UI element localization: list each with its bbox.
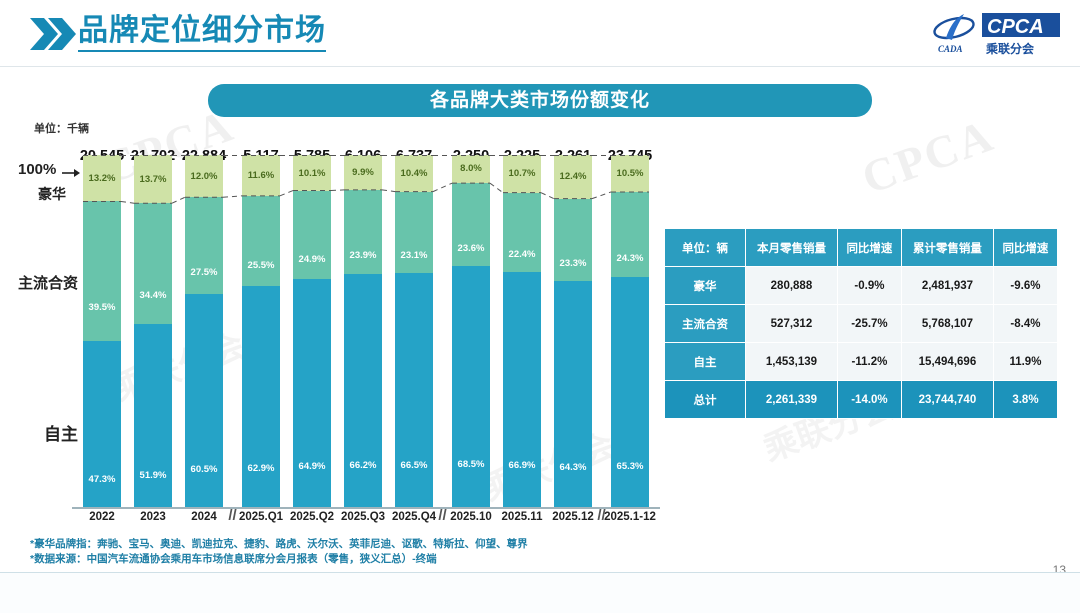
table-row: 豪华280,888-0.9%2,481,937-9.6% <box>665 267 1058 305</box>
x-axis-line <box>72 507 660 509</box>
segment-value-label: 64.3% <box>554 462 592 473</box>
table-row-header: 总计 <box>665 381 746 419</box>
table-cell: 15,494,696 <box>901 343 993 381</box>
segment-value-label: 22.4% <box>503 249 541 260</box>
table-header-row: 单位：辆本月零售销量同比增速累计零售销量同比增速 <box>665 229 1058 267</box>
segment-value-label: 62.9% <box>242 463 280 474</box>
table-cell: -0.9% <box>837 267 901 305</box>
bar-segment-luxury: 12.0% <box>185 155 223 197</box>
table-row: 自主1,453,139-11.2%15,494,69611.9% <box>665 343 1058 381</box>
bar-segment-self: 64.9% <box>293 279 331 507</box>
x-axis-tick-label: 2025.Q1 <box>239 511 283 523</box>
table-cell: -14.0% <box>837 381 901 419</box>
segment-value-label: 66.9% <box>503 460 541 471</box>
x-axis-tick-label: 2023 <box>140 511 166 523</box>
bar-segment-luxury: 9.9% <box>344 155 382 190</box>
x-axis-tick-label: 2025.10 <box>450 511 492 523</box>
slide-root: CPCA CPCA 乘联分会 乘联分会 乘联分会 品牌定位细分市场 CADA C… <box>0 0 1080 613</box>
bar-segment-luxury: 12.4% <box>554 155 592 199</box>
bar-segment-luxury: 8.0% <box>452 155 490 183</box>
x-axis-tick-label: 2025.12 <box>552 511 594 523</box>
bar-segment-joint: 23.1% <box>395 192 433 273</box>
bar-column: 8.0%23.6%68.5% <box>452 155 490 507</box>
segment-value-label: 66.5% <box>395 460 433 471</box>
bar-segment-luxury: 13.2% <box>83 155 121 201</box>
bar-segment-self: 51.9% <box>134 324 172 507</box>
table-row: 总计2,261,339-14.0%23,744,7403.8% <box>665 381 1058 419</box>
segment-value-label: 66.2% <box>344 460 382 471</box>
summary-table: 单位：辆本月零售销量同比增速累计零售销量同比增速 豪华280,888-0.9%2… <box>664 228 1058 419</box>
series-label-self: 自主 <box>44 420 78 445</box>
bar-segment-joint: 34.4% <box>134 203 172 324</box>
table-cell: 527,312 <box>746 305 838 343</box>
axis-100-label: 100% <box>18 161 56 178</box>
x-axis-tick-label: 2025.Q2 <box>290 511 334 523</box>
table-col-header: 本月零售销量 <box>746 229 838 267</box>
table-cell: -11.2% <box>837 343 901 381</box>
bar-segment-self: 47.3% <box>83 341 121 507</box>
bar-column: 13.7%34.4%51.9% <box>134 155 172 507</box>
bar-column: 12.4%23.3%64.3% <box>554 155 592 507</box>
bar-segment-joint: 27.5% <box>185 197 223 294</box>
chart-subtitle: 各品牌大类市场份额变化 <box>208 84 872 117</box>
segment-value-label: 24.9% <box>293 254 331 265</box>
segment-value-label: 64.9% <box>293 461 331 472</box>
x-axis-tick-label: 2024 <box>191 511 217 523</box>
x-axis-tick-label: 2025.Q4 <box>392 511 436 523</box>
header-divider <box>0 66 1080 67</box>
table-cell: -8.4% <box>993 305 1057 343</box>
footnote-brands: *豪华品牌指：奔驰、宝马、奥迪、凯迪拉克、捷豹、路虎、沃尔沃、英菲尼迪、讴歌、特… <box>30 536 528 551</box>
table-cell: -25.7% <box>837 305 901 343</box>
segment-value-label: 23.9% <box>344 250 382 261</box>
bar-segment-luxury: 10.7% <box>503 155 541 193</box>
segment-value-label: 10.5% <box>611 168 649 179</box>
segment-value-label: 10.1% <box>293 168 331 179</box>
segment-value-label: 68.5% <box>452 459 490 470</box>
bar-segment-self: 66.5% <box>395 273 433 507</box>
table-col-header: 同比增速 <box>837 229 901 267</box>
bar-segment-joint: 25.5% <box>242 196 280 286</box>
segment-value-label: 8.0% <box>452 163 490 174</box>
segment-value-label: 23.6% <box>452 243 490 254</box>
segment-value-label: 65.3% <box>611 461 649 472</box>
bar-segment-joint: 22.4% <box>503 193 541 272</box>
bar-column: 10.1%24.9%64.9% <box>293 155 331 507</box>
svg-text:CADA: CADA <box>938 44 963 54</box>
bar-column: 10.4%23.1%66.5% <box>395 155 433 507</box>
segment-value-label: 39.5% <box>83 302 121 313</box>
x-axis-labels: 2022202320242025.Q12025.Q22025.Q32025.Q4… <box>80 511 650 533</box>
table-cell: 11.9% <box>993 343 1057 381</box>
bar-segment-luxury: 10.1% <box>293 155 331 191</box>
page-title: 品牌定位细分市场 <box>78 14 326 52</box>
bar-column: 10.7%22.4%66.9% <box>503 155 541 507</box>
svg-text:CPCA: CPCA <box>987 16 1044 38</box>
bar-segment-self: 68.5% <box>452 266 490 507</box>
bar-column: 9.9%23.9%66.2% <box>344 155 382 507</box>
segment-value-label: 12.4% <box>554 171 592 182</box>
bar-segment-luxury: 10.5% <box>611 155 649 192</box>
segment-value-label: 60.5% <box>185 464 223 475</box>
bar-segment-self: 65.3% <box>611 277 649 507</box>
segment-value-label: 10.7% <box>503 168 541 179</box>
watermark: CPCA <box>855 108 1001 204</box>
slide-header: 品牌定位细分市场 CADA CPCA 乘联分会 <box>0 0 1080 66</box>
table-col-header: 单位：辆 <box>665 229 746 267</box>
table-cell: 5,768,107 <box>901 305 993 343</box>
series-label-luxury: 豪华 <box>38 184 66 204</box>
bar-segment-luxury: 10.4% <box>395 155 433 192</box>
table-cell: 280,888 <box>746 267 838 305</box>
table-cell: 2,261,339 <box>746 381 838 419</box>
bar-segment-self: 66.9% <box>503 272 541 507</box>
table-cell: 23,744,740 <box>901 381 993 419</box>
axis-break-mark: // <box>228 507 236 524</box>
bar-segment-joint: 23.6% <box>452 183 490 266</box>
bar-segment-luxury: 11.6% <box>242 155 280 196</box>
table-cell: 2,481,937 <box>901 267 993 305</box>
x-axis-tick-label: 2025.Q3 <box>341 511 385 523</box>
table-row-header: 自主 <box>665 343 746 381</box>
series-label-joint: 主流合资 <box>18 272 78 293</box>
bar-column: 12.0%27.5%60.5% <box>185 155 223 507</box>
segment-value-label: 27.5% <box>185 267 223 278</box>
bar-column: 11.6%25.5%62.9% <box>242 155 280 507</box>
segment-value-label: 47.3% <box>83 474 121 485</box>
segment-value-label: 23.1% <box>395 250 433 261</box>
segment-value-label: 9.9% <box>344 167 382 178</box>
x-axis-tick-label: 2022 <box>89 511 115 523</box>
bar-column: 10.5%24.3%65.3% <box>611 155 649 507</box>
cpca-logo: CADA CPCA 乘联分会 <box>930 8 1062 56</box>
stacked-bar-chart: 13.2%39.5%47.3%13.7%34.4%51.9%12.0%27.5%… <box>80 155 650 507</box>
table-row: 主流合资527,312-25.7%5,768,107-8.4% <box>665 305 1058 343</box>
bar-segment-self: 66.2% <box>344 274 382 507</box>
footer-bar: 秘书处 地址：上海市武宁路423号18号楼1103室 电话：021-526809… <box>0 573 1080 613</box>
table-body: 豪华280,888-0.9%2,481,937-9.6%主流合资527,312-… <box>665 267 1058 419</box>
bar-segment-luxury: 13.7% <box>134 155 172 203</box>
segment-value-label: 13.2% <box>83 173 121 184</box>
bar-segment-joint: 24.9% <box>293 191 331 279</box>
segment-value-label: 34.4% <box>134 290 172 301</box>
segment-value-label: 23.3% <box>554 258 592 269</box>
x-axis-tick-label: 2025.1-12 <box>604 511 656 523</box>
segment-value-label: 51.9% <box>134 470 172 481</box>
table-row-header: 主流合资 <box>665 305 746 343</box>
bar-segment-joint: 23.9% <box>344 190 382 274</box>
bar-segment-joint: 23.3% <box>554 199 592 281</box>
table-cell: 3.8% <box>993 381 1057 419</box>
segment-value-label: 24.3% <box>611 253 649 264</box>
bar-segment-self: 60.5% <box>185 294 223 507</box>
unit-note: 单位：千辆 <box>34 120 89 136</box>
bar-segment-self: 62.9% <box>242 286 280 507</box>
segment-value-label: 25.5% <box>242 260 280 271</box>
bar-segment-joint: 24.3% <box>611 192 649 278</box>
bar-segment-joint: 39.5% <box>83 201 121 340</box>
svg-text:乘联分会: 乘联分会 <box>985 41 1035 56</box>
x-axis-tick-label: 2025.11 <box>502 511 543 523</box>
table-row-header: 豪华 <box>665 267 746 305</box>
bar-segment-self: 64.3% <box>554 281 592 507</box>
segment-value-label: 11.6% <box>242 170 280 181</box>
bar-column: 13.2%39.5%47.3% <box>83 155 121 507</box>
axis-break-mark: // <box>597 507 605 524</box>
segment-value-label: 12.0% <box>185 171 223 182</box>
segment-value-label: 13.7% <box>134 174 172 185</box>
arrow-right-icon <box>62 168 80 178</box>
double-chevron-icon <box>28 16 78 52</box>
table-cell: -9.6% <box>993 267 1057 305</box>
table-col-header: 累计零售销量 <box>901 229 993 267</box>
segment-value-label: 10.4% <box>395 168 433 179</box>
table-col-header: 同比增速 <box>993 229 1057 267</box>
table-cell: 1,453,139 <box>746 343 838 381</box>
footnote-source: *数据来源：中国汽车流通协会乘用车市场信息联席分会月报表（零售，狭义汇总）-终端 <box>30 551 437 566</box>
axis-break-mark: // <box>438 507 446 524</box>
